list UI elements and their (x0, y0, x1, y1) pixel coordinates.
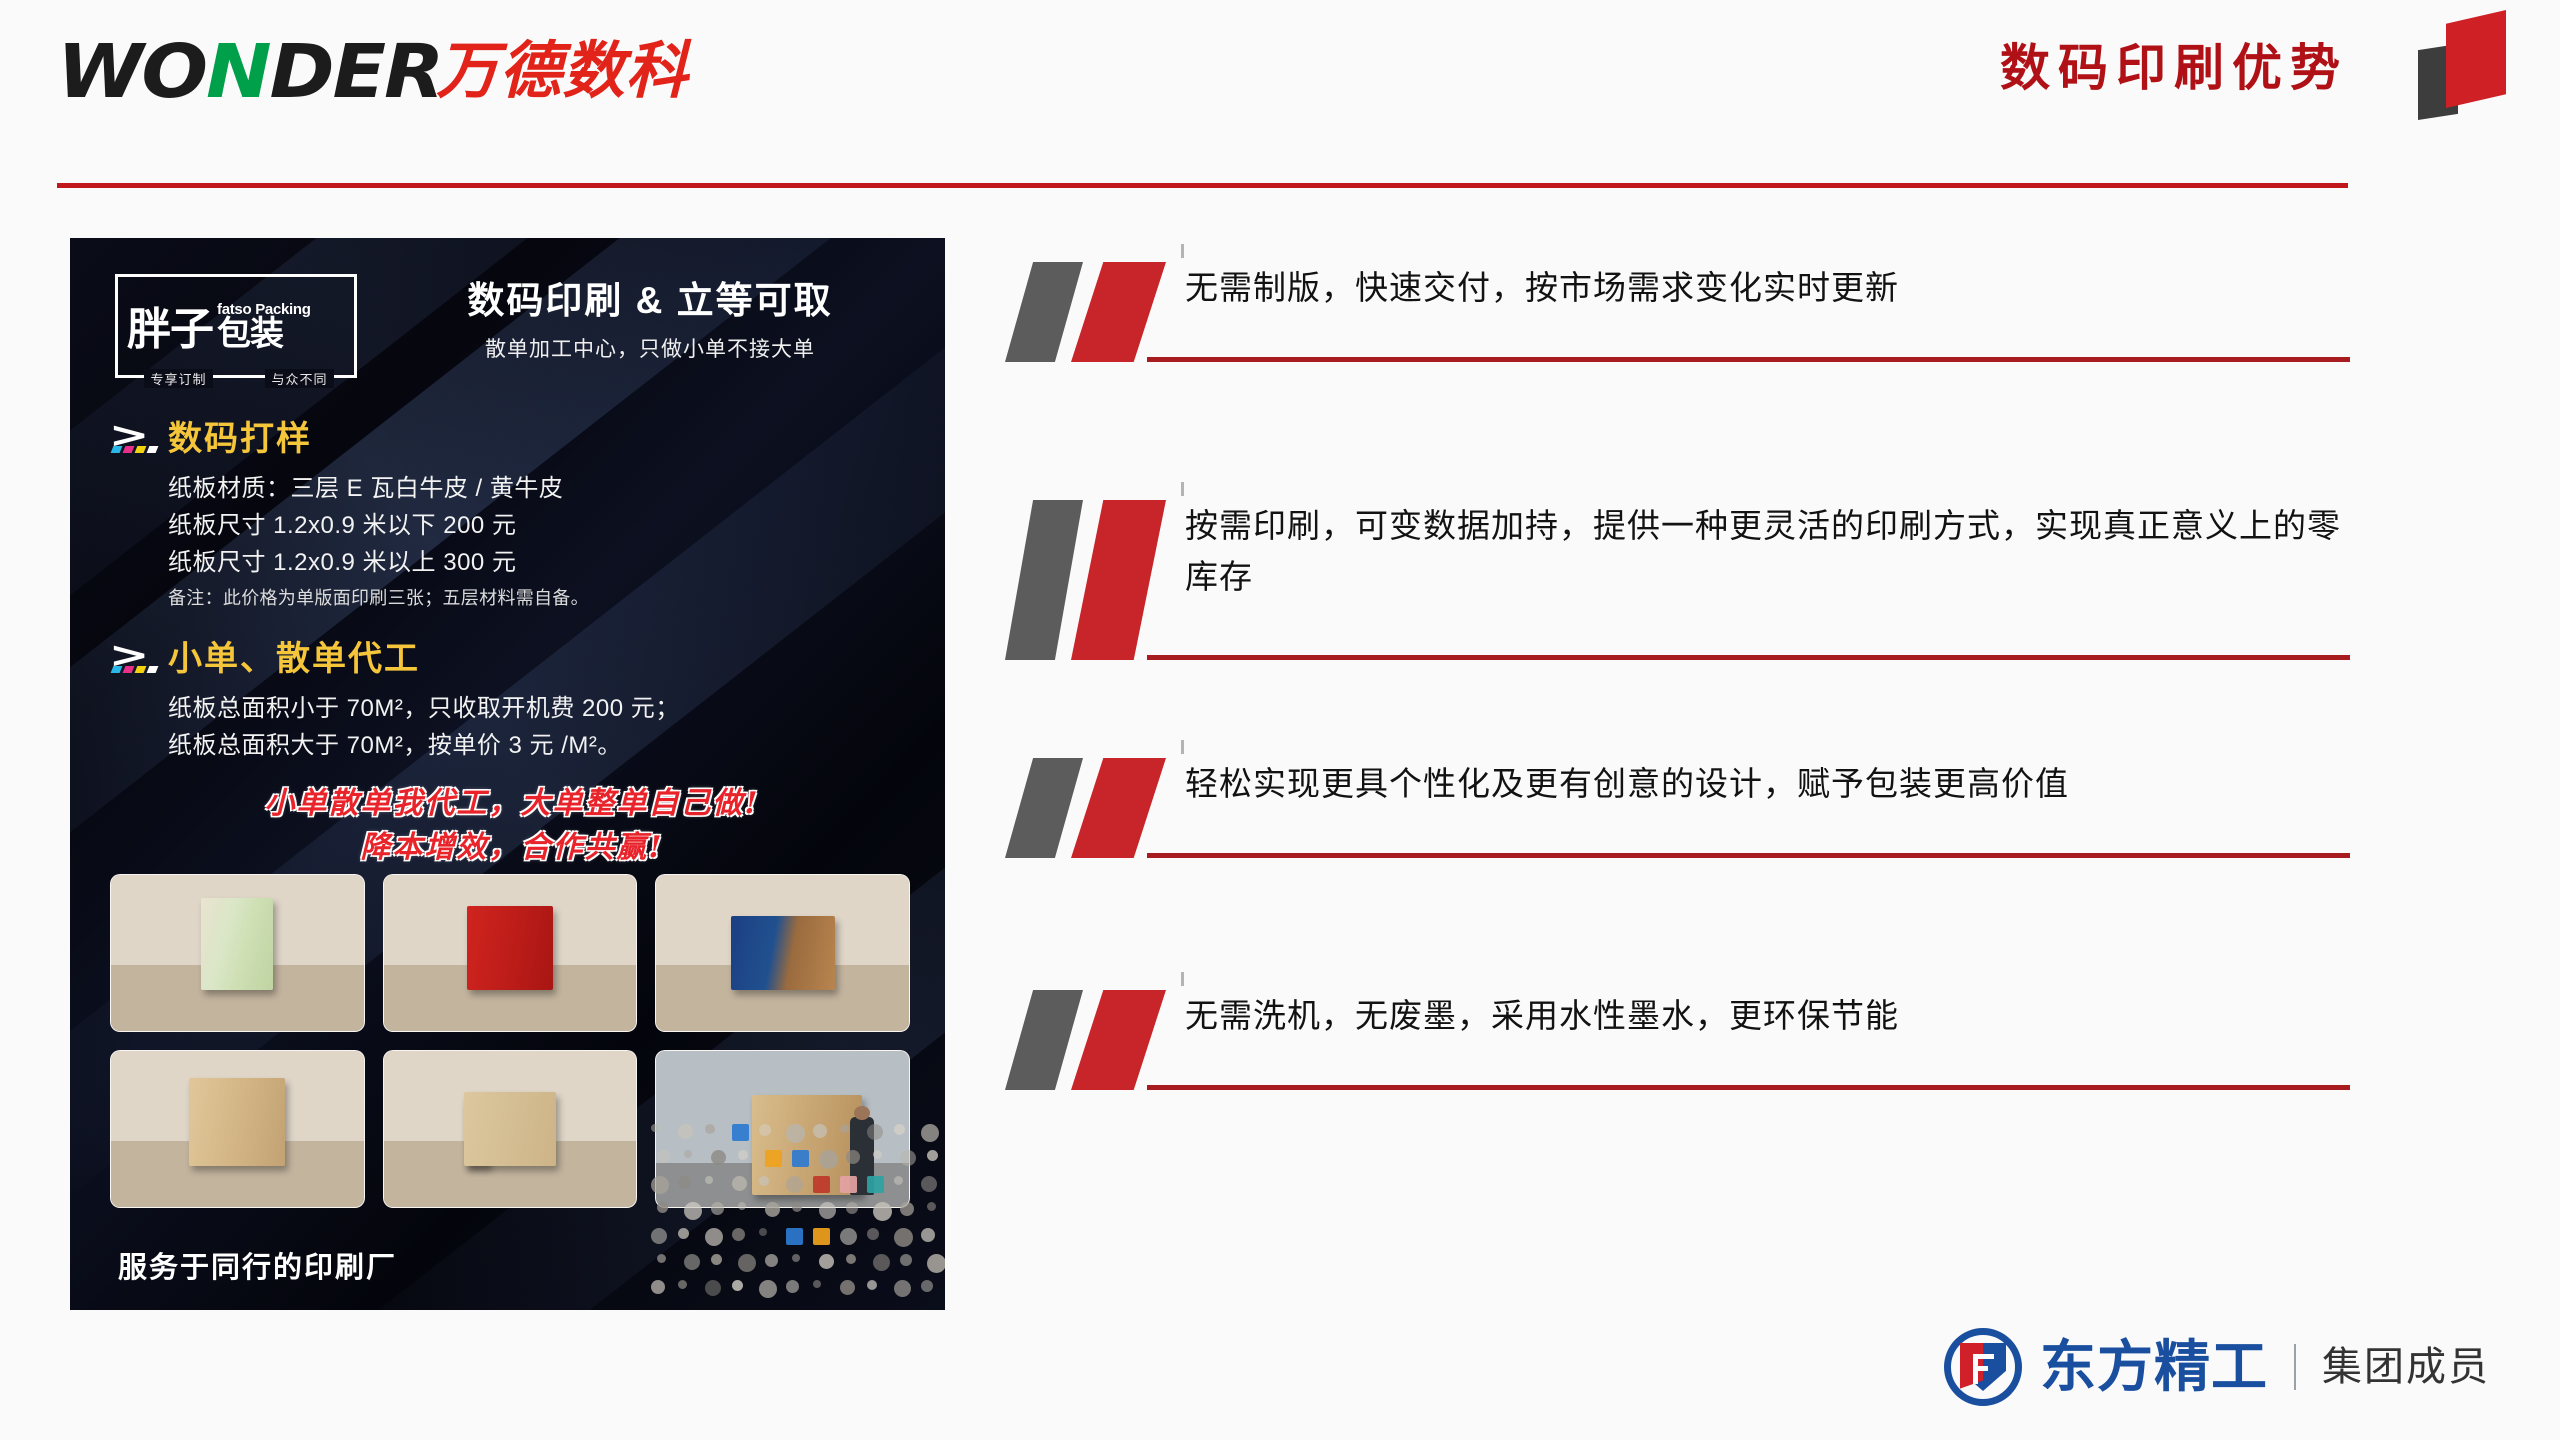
slogan-line-1: 小单散单我代工，大单整单自己做! (112, 782, 912, 826)
product-photo-kraft-classic-pair (383, 1050, 638, 1208)
brand-name-cn: 万德数科 (436, 41, 688, 103)
bullet-underline (1147, 357, 2350, 362)
wonder-part1: WO (57, 29, 206, 115)
chevron-right-icon: > (112, 416, 168, 462)
page-title: 数码印刷优势 (2000, 36, 2348, 101)
poster-slogan: 小单散单我代工，大单整单自己做! 降本增效，合作共赢! (112, 782, 912, 869)
section-line: 纸板尺寸 1.2x0.9 米以下 200 元 (168, 507, 912, 544)
advantage-item-1: 无需制版，快速交付，按市场需求变化实时更新 (1005, 262, 2350, 362)
wonder-wordmark: WONDER (57, 35, 442, 109)
advantages-list: 无需制版，快速交付，按市场需求变化实时更新 按需印刷，可变数据加持，提供一种更灵… (1005, 262, 2350, 1090)
chevron-right-icon: > (112, 636, 168, 682)
dongfang-emblem-icon (1944, 1328, 2022, 1406)
bullet-tick-mark (1181, 972, 1184, 986)
wonder-part2: DER (269, 29, 442, 115)
wonder-letter-n-green: N (206, 29, 270, 115)
bullet-bar-gray (1005, 262, 1083, 362)
poster-headline-block: 数码印刷 & 立等可取 散单加工中心，只做小单不接大单 (390, 280, 910, 363)
bullet-bar-red (1071, 990, 1166, 1090)
section-line: 纸板尺寸 1.2x0.9 米以上 300 元 (168, 544, 912, 581)
slide-root: WONDER 万德数科 数码印刷优势 胖子 fatso Packing 包装 专… (0, 0, 2560, 1440)
advantage-item-2: 按需印刷，可变数据加持，提供一种更灵活的印刷方式，实现真正意义上的零库存 (1005, 500, 2350, 660)
bullet-bar-red (1071, 500, 1166, 660)
advantage-text: 无需制版，快速交付，按市场需求变化实时更新 (1185, 262, 2350, 313)
advantage-text: 无需洗机，无废墨，采用水性墨水，更环保节能 (1185, 990, 2350, 1041)
fatso-tagline-right: 与众不同 (265, 369, 333, 388)
fatso-logo-cn: 胖子 (127, 309, 213, 351)
bullet-tick-mark (1181, 740, 1184, 754)
bullet-underline (1147, 853, 2350, 858)
poster-section-small-order-oem: > 小单、散单代工 纸板总面积小于 70M²，只收取开机费 200 元； 纸板总… (112, 636, 912, 764)
product-photo-large-mural-carton (655, 1050, 910, 1208)
bullet-bar-gray (1005, 758, 1083, 858)
poster-headline: 数码印刷 & 立等可取 (390, 280, 910, 323)
poster-footer-text: 服务于同行的印刷厂 (118, 1244, 397, 1286)
product-photo-blue-beef-box (655, 874, 910, 1032)
product-photo-kraft-handle-box (110, 1050, 365, 1208)
section-title: 小单、散单代工 (168, 642, 420, 676)
slogan-line-2: 降本增效，合作共赢! (112, 826, 912, 870)
section-line: 纸板材质：三层 E 瓦白牛皮 / 黄牛皮 (168, 470, 912, 507)
footer-member-label: 集团成员 (2322, 1347, 2490, 1387)
bullet-marker-icon (1005, 990, 1180, 1090)
bullet-bar-red (1071, 758, 1166, 858)
section-line: 纸板总面积小于 70M²，只收取开机费 200 元； (168, 690, 912, 727)
fatso-packing-logo: 胖子 fatso Packing 包装 专享订制 与众不同 (115, 274, 357, 378)
advantage-text: 按需印刷，可变数据加持，提供一种更灵活的印刷方式，实现真正意义上的零库存 (1185, 500, 2350, 602)
fatso-tagline-left: 专享订制 (144, 369, 212, 388)
bullet-bar-gray (1005, 990, 1083, 1090)
section-title: 数码打样 (168, 422, 312, 456)
advantage-item-4: 无需洗机，无废墨，采用水性墨水，更环保节能 (1005, 990, 2350, 1090)
corner-decoration-icon (2414, 10, 2522, 120)
bullet-marker-icon (1005, 758, 1180, 858)
advantage-text: 轻松实现更具个性化及更有创意的设计，赋予包装更高价值 (1185, 758, 2350, 809)
product-photo-grid (110, 874, 910, 1208)
fatso-logo-pack-cn: 包装 (217, 317, 311, 351)
header-divider (57, 183, 2348, 188)
brand-logo: WONDER 万德数科 (57, 36, 688, 108)
bullet-underline (1147, 1085, 2350, 1090)
bullet-underline (1147, 655, 2350, 660)
corner-deco-red-shape (2446, 10, 2506, 108)
section-line: 纸板总面积大于 70M²，按单价 3 元 /M²。 (168, 727, 912, 764)
footer-divider (2294, 1344, 2296, 1390)
fatso-logo-taglines: 专享订制 与众不同 (118, 369, 360, 388)
poster-section-digital-proofing: > 数码打样 纸板材质：三层 E 瓦白牛皮 / 黄牛皮 纸板尺寸 1.2x0.9… (112, 416, 912, 612)
bullet-tick-mark (1181, 244, 1184, 258)
bullet-marker-icon (1005, 500, 1180, 660)
section-note: 备注：此价格为单版面印刷三张；五层材料需自备。 (168, 585, 912, 612)
cmyk-dashes-icon (111, 446, 159, 453)
product-photo-red-gift-box (383, 874, 638, 1032)
poster-subheadline: 散单加工中心，只做小单不接大单 (390, 333, 910, 363)
advantage-item-3: 轻松实现更具个性化及更有创意的设计，赋予包装更高价值 (1005, 758, 2350, 858)
footer-company-name: 东方精工 (2040, 1339, 2268, 1395)
footer-company-logo: 东方精工 集团成员 (1944, 1324, 2490, 1410)
bullet-marker-icon (1005, 262, 1180, 362)
bullet-bar-red (1071, 262, 1166, 362)
product-photo-honey-gift-box (110, 874, 365, 1032)
bullet-bar-gray (1005, 500, 1083, 660)
promo-poster: 胖子 fatso Packing 包装 专享订制 与众不同 数码印刷 & 立等可… (70, 238, 945, 1310)
cmyk-dashes-icon (111, 666, 159, 673)
bullet-tick-mark (1181, 482, 1184, 496)
